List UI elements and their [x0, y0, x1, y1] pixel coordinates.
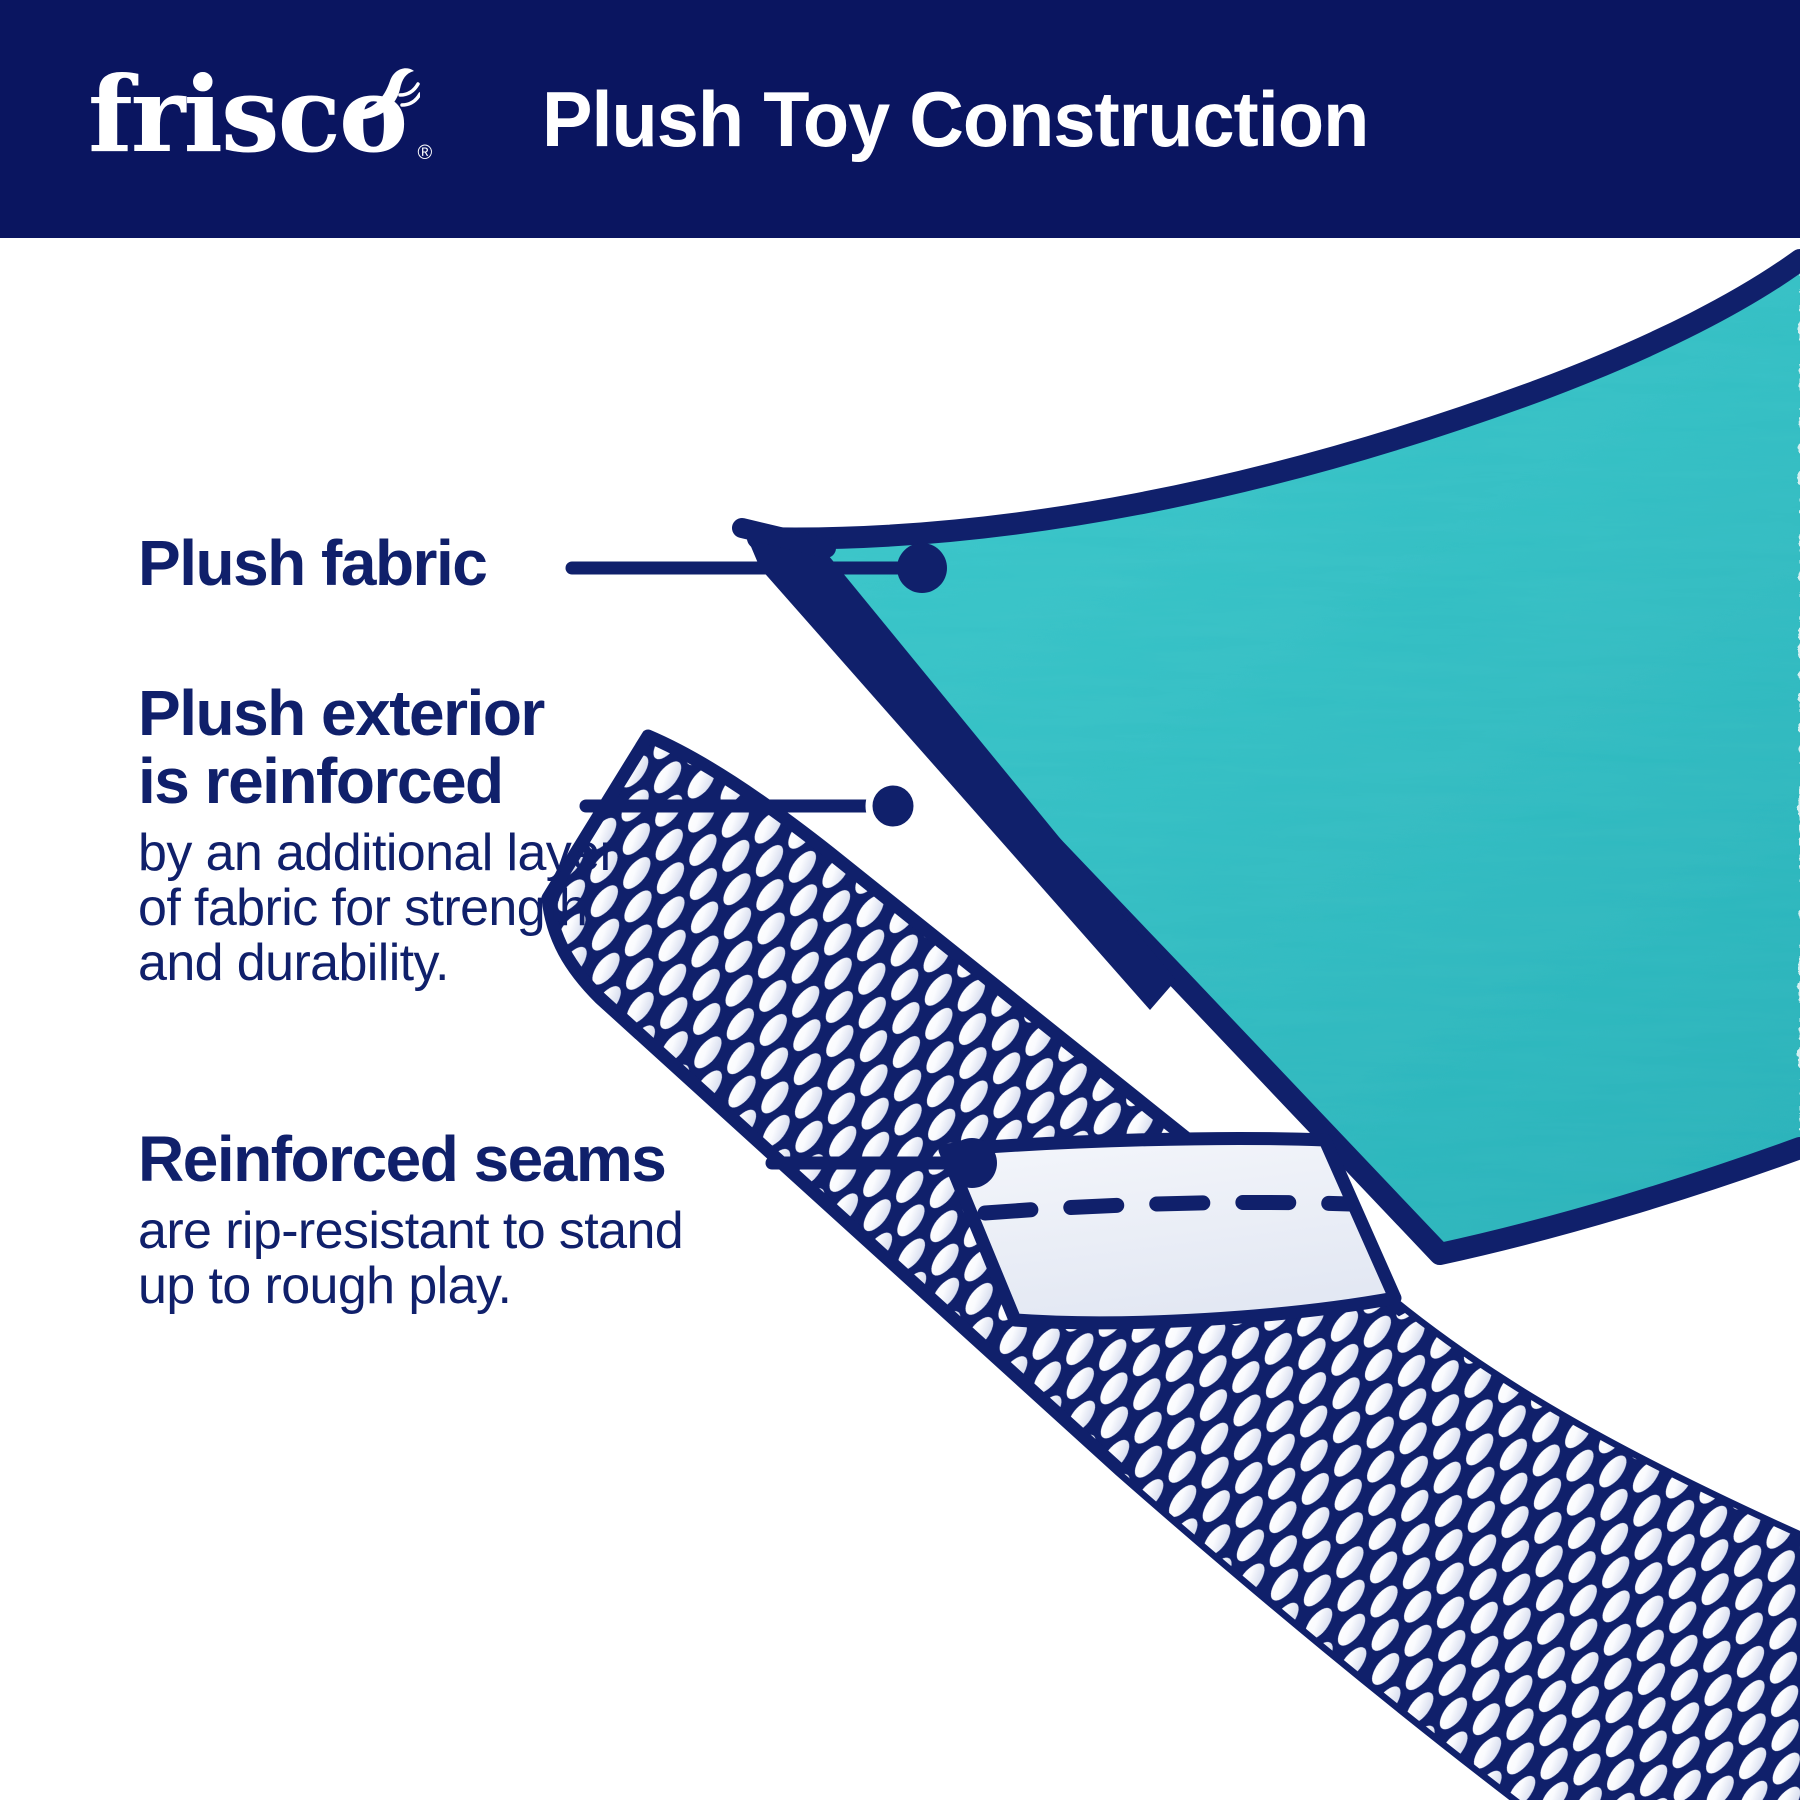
callout-reinforced-seams-body-line-2: up to rough play. — [138, 1259, 683, 1314]
infographic-page: frisco ® Plush Toy Construction — [0, 0, 1800, 1800]
callout-plush-exterior-body-line-1: by an additional layer — [138, 826, 616, 881]
callout-reinforced-seams-body-line-1: are rip-resistant to stand — [138, 1204, 683, 1259]
callout-reinforced-seams-body: are rip-resistant to stand up to rough p… — [138, 1204, 683, 1314]
callout-plush-fabric-headline: Plush fabric — [138, 530, 486, 598]
frisco-logo: frisco ® — [88, 63, 406, 167]
registered-trademark-mark: ® — [418, 143, 431, 163]
seam-panel-layer — [945, 1138, 1395, 1322]
callout-reinforced-seams: Reinforced seams are rip-resistant to st… — [138, 1126, 683, 1314]
frisco-logo-text: frisco — [88, 53, 406, 176]
callout-plush-exterior-headline-line-2: is reinforced — [138, 748, 616, 816]
page-title: Plush Toy Construction — [542, 74, 1368, 165]
callout-plush-exterior-headline-line-1: Plush exterior — [138, 680, 616, 748]
marker-dot-plush-fabric — [897, 543, 947, 593]
marker-dot-reinforced-seams — [947, 1138, 997, 1188]
callout-plush-exterior-body-line-3: and durability. — [138, 936, 616, 991]
header-bar: frisco ® Plush Toy Construction — [0, 0, 1800, 238]
callout-plush-exterior: Plush exterior is reinforced by an addit… — [138, 680, 616, 991]
callout-plush-exterior-body: by an additional layer of fabric for str… — [138, 826, 616, 991]
callout-reinforced-seams-headline: Reinforced seams — [138, 1126, 683, 1194]
callout-plush-exterior-body-line-2: of fabric for strength — [138, 881, 616, 936]
marker-ring-plush-exterior — [869, 782, 917, 830]
callout-plush-fabric: Plush fabric — [138, 530, 486, 598]
plush-toy-construction-illustration — [0, 238, 1800, 1800]
